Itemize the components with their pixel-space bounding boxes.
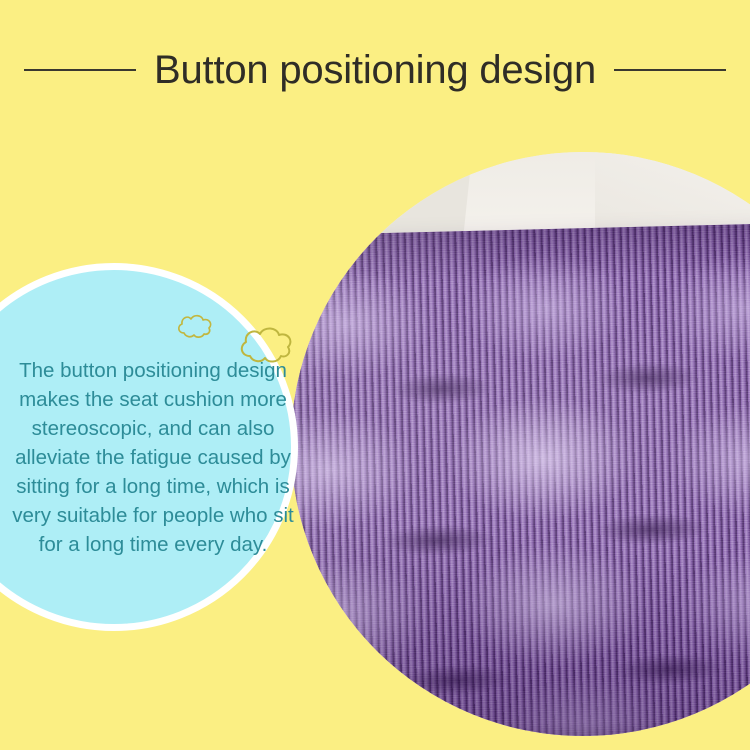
title-rule-right [614, 69, 726, 71]
page-title: Button positioning design [154, 50, 596, 90]
info-bubble-text: The button positioning design makes the … [7, 356, 299, 559]
photo-lighting-overlay [291, 219, 750, 736]
promo-banner: Button positioning design The button pos… [0, 0, 750, 750]
product-photo [291, 152, 750, 736]
seat-cushion [291, 219, 750, 736]
cloud-small-icon [175, 313, 217, 339]
info-bubble: The button positioning design makes the … [0, 263, 298, 631]
header: Button positioning design [0, 40, 750, 100]
title-rule-left [24, 69, 136, 71]
